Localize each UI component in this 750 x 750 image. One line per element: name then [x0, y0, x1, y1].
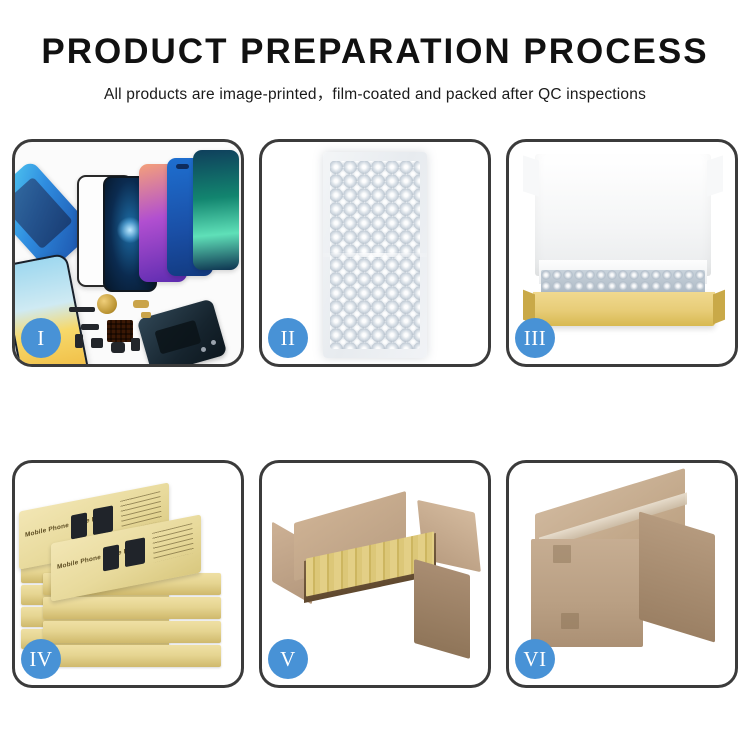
- carton-front-face: [531, 539, 643, 647]
- kraft-box-base-icon: [533, 292, 715, 326]
- step-panel-2: II: [259, 139, 491, 367]
- carton-side-face: [414, 559, 470, 659]
- bag-seam: [323, 253, 427, 257]
- part-sim-tray-icon: [131, 338, 140, 351]
- box-lid-icon: [535, 154, 711, 276]
- part-camera-lens-icon: [97, 294, 117, 314]
- step-badge-3: III: [515, 318, 555, 358]
- part-button-icon: [75, 334, 83, 348]
- bubble-wrap-bag-icon: [323, 152, 427, 358]
- part-connector-gold-icon: [141, 312, 151, 318]
- box-printed-phone-icon: [71, 512, 87, 539]
- step-panel-4: Mobile Phone Spare Parts Mobile Phone Sp…: [12, 460, 244, 688]
- carton-tab-icon: [561, 613, 579, 629]
- carton-tab-icon: [553, 545, 571, 563]
- process-steps-grid: I II III: [12, 139, 738, 695]
- step-badge-2: II: [268, 318, 308, 358]
- box-printed-phone-icon: [93, 505, 113, 535]
- part-vibrator-icon: [111, 342, 125, 353]
- page-subtitle: All products are image-printed，film-coat…: [0, 82, 750, 104]
- step-panel-5: V: [259, 460, 491, 688]
- box-printed-phone-icon: [103, 544, 119, 571]
- stacked-box-edge: [43, 597, 221, 619]
- step-badge-5: V: [268, 639, 308, 679]
- box-printed-textlines: [152, 523, 194, 563]
- phone-screen-teal-icon: [193, 150, 239, 270]
- page-title: PRODUCT PREPARATION PROCESS: [0, 34, 750, 71]
- carton-front-face: [300, 581, 418, 665]
- stacked-box-edge: [43, 645, 221, 667]
- step-badge-6: VI: [515, 639, 555, 679]
- part-ic-chip-icon: [107, 320, 133, 342]
- stacked-box-edge: [43, 621, 221, 643]
- step-panel-1: I: [12, 139, 244, 367]
- carton-right-face: [639, 511, 715, 642]
- box-printed-phone-icon: [125, 537, 145, 567]
- phone-teardown-housing-icon: [137, 298, 228, 364]
- step-panel-3: III: [506, 139, 738, 367]
- infographic-page: PRODUCT PREPARATION PROCESS All products…: [0, 0, 750, 750]
- part-bracket-icon: [91, 338, 103, 348]
- part-flex-gold-icon: [133, 300, 149, 308]
- step-badge-1: I: [21, 318, 61, 358]
- part-screw-icon: [211, 340, 216, 345]
- part-screw-icon: [201, 347, 206, 352]
- header: PRODUCT PREPARATION PROCESS All products…: [0, 0, 750, 104]
- step-panel-6: VI: [506, 460, 738, 688]
- part-flex-cable-icon: [81, 324, 99, 330]
- part-speaker-mesh-icon: [69, 307, 95, 312]
- step-badge-4: IV: [21, 639, 61, 679]
